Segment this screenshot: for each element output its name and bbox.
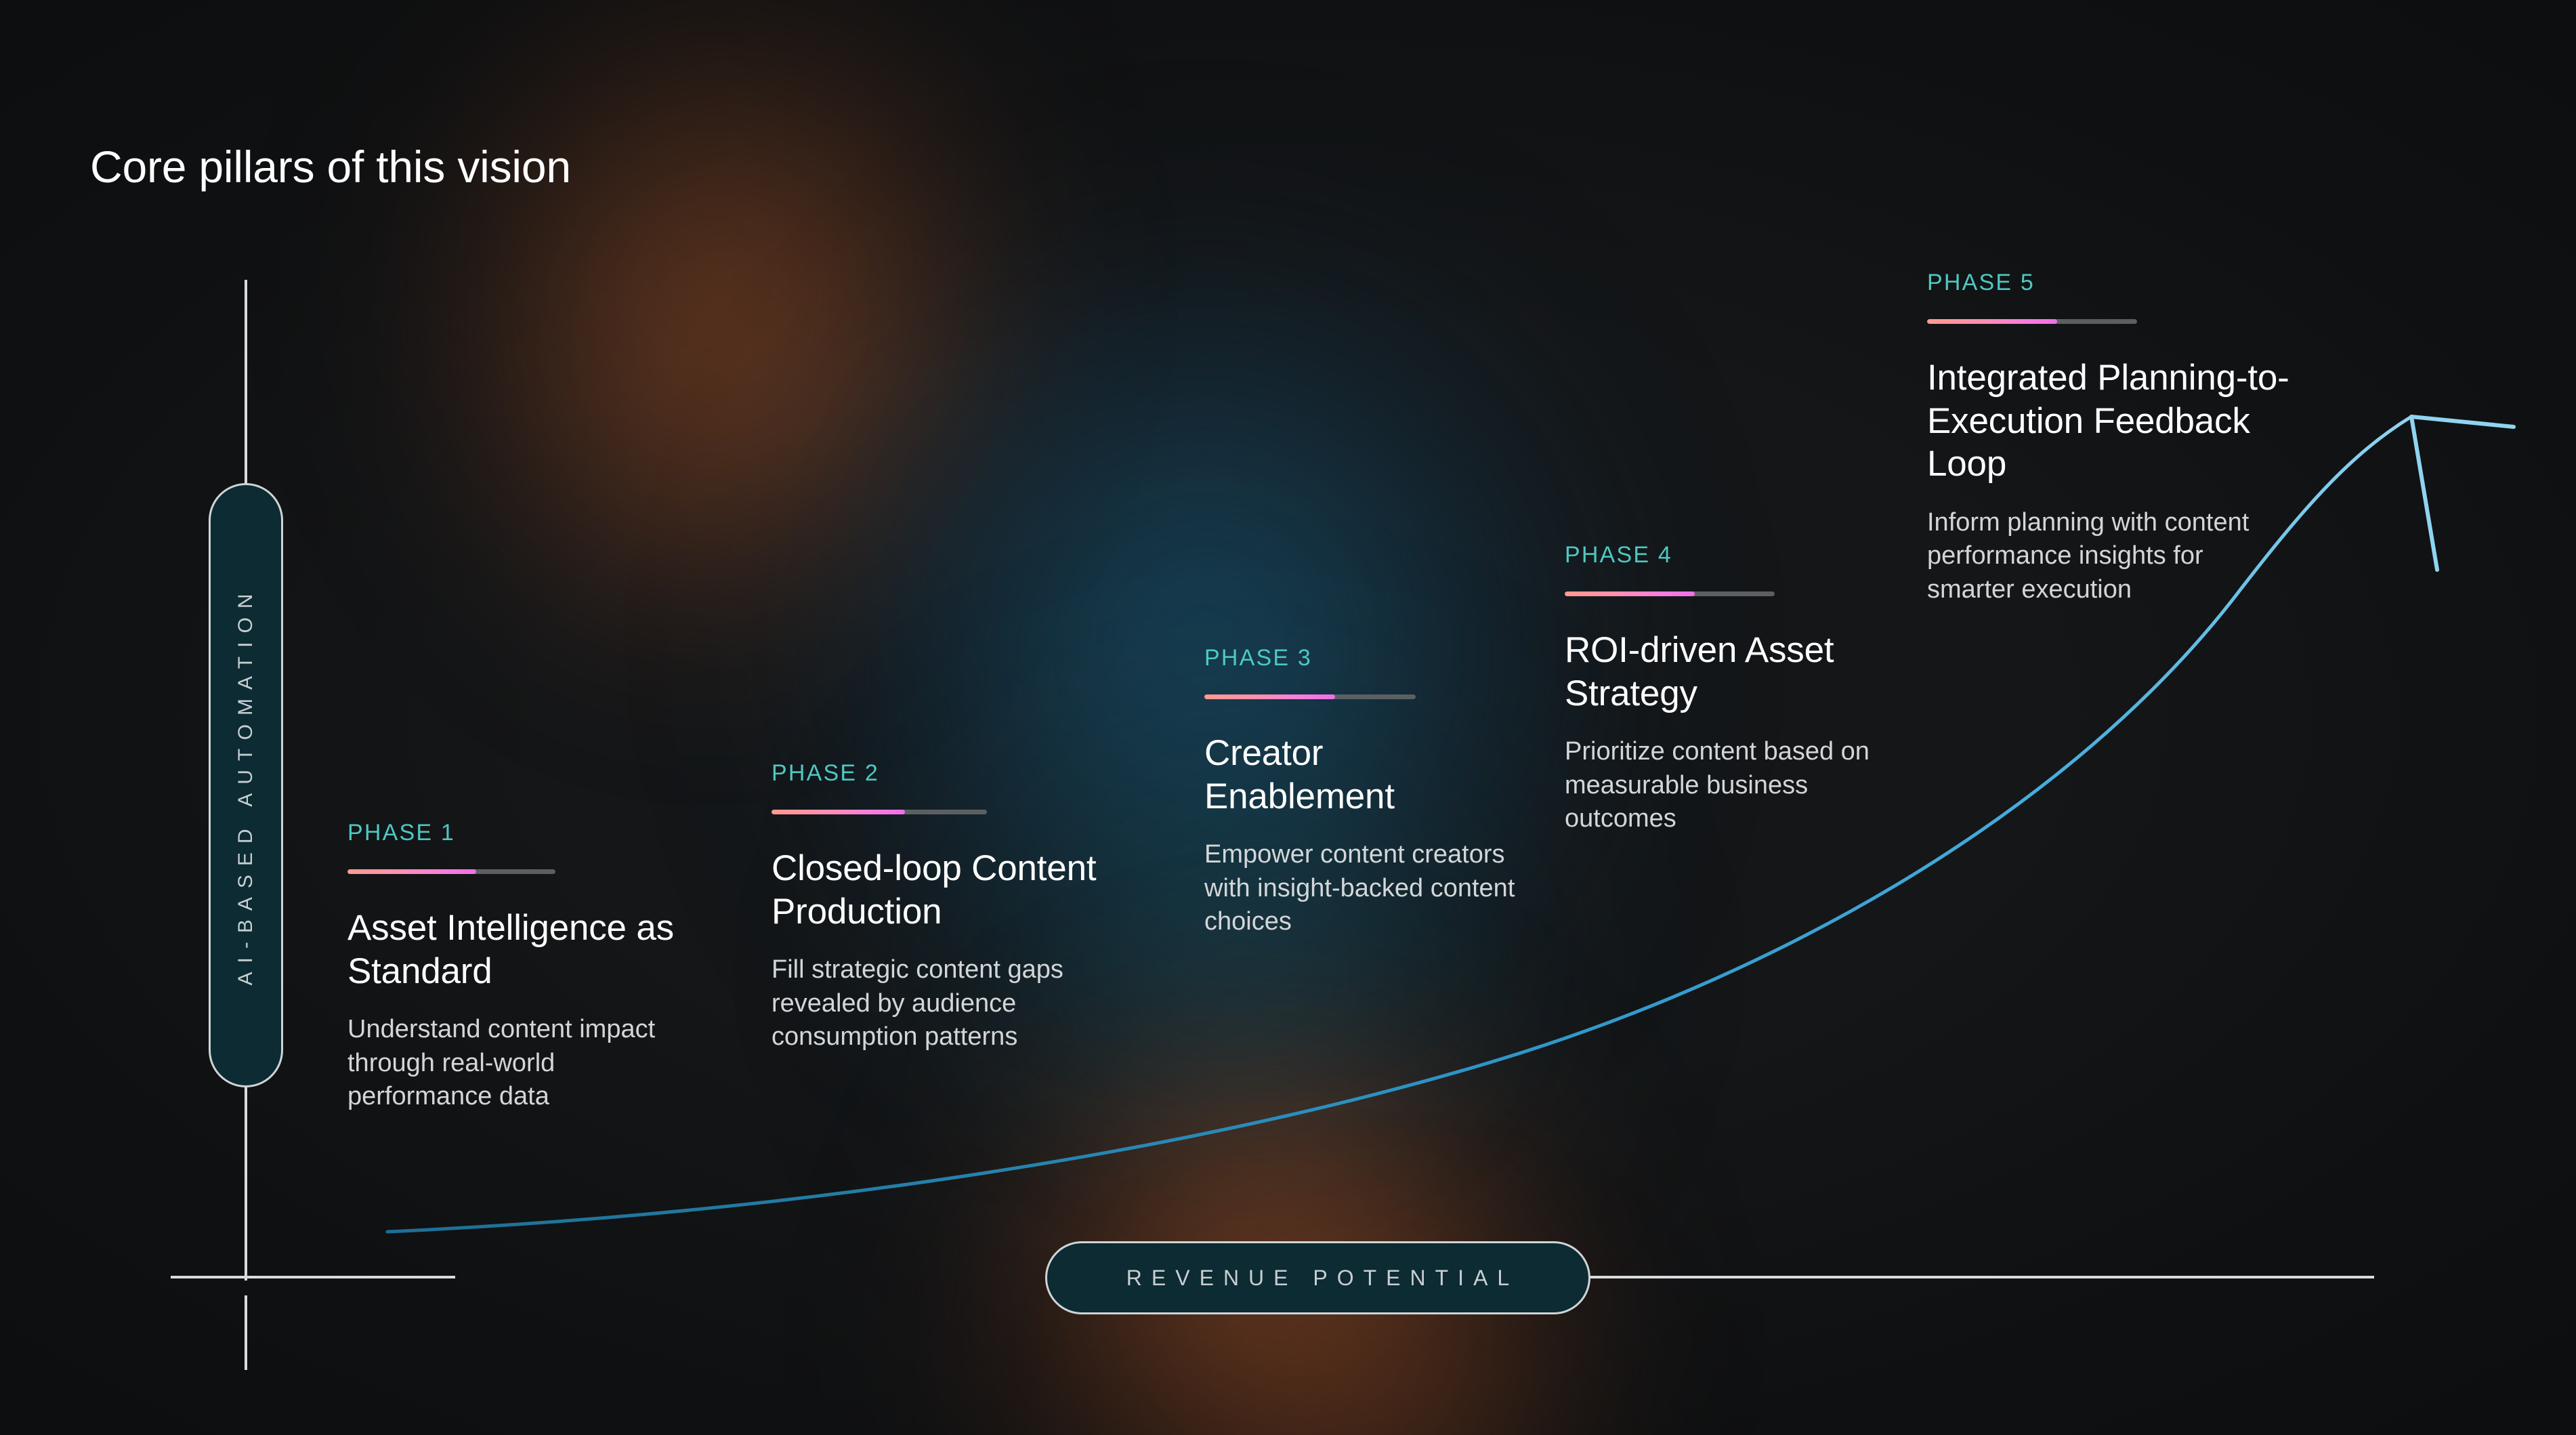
phase-description-5: Inform planning with content performance…: [1927, 506, 2296, 606]
phase-label-4: PHASE 4: [1565, 542, 1890, 568]
y-axis-line-lower: [245, 1084, 247, 1281]
phase-title-1: Asset Intelligence as Standard: [347, 907, 706, 993]
phase-progress-fill-1: [347, 869, 476, 874]
phase-label-5: PHASE 5: [1927, 270, 2296, 296]
slide-canvas: Core pillars of this vision AI-BASED AUT…: [0, 0, 2576, 1435]
phase-description-4: Prioritize content based on measurable b…: [1565, 735, 1890, 835]
phase-label-3: PHASE 3: [1204, 645, 1523, 671]
y-axis-line-stub: [245, 1295, 247, 1370]
background-glow-orange-top: [284, 0, 1138, 793]
y-axis-label-pill: AI-BASED AUTOMATION: [209, 483, 283, 1087]
x-axis-label-pill: REVENUE POTENTIAL: [1045, 1241, 1590, 1314]
x-axis-line-right: [1587, 1276, 2374, 1278]
page-title: Core pillars of this vision: [90, 144, 571, 190]
x-axis-label-text: REVENUE POTENTIAL: [1117, 1266, 1519, 1291]
phase-description-1: Understand content impact through real-w…: [347, 1013, 706, 1113]
x-axis-line-left: [171, 1276, 455, 1278]
y-axis-label-text: AI-BASED AUTOMATION: [234, 585, 257, 986]
phase-progress-bar-5: [1927, 319, 2137, 324]
phase-card-5[interactable]: PHASE 5 Integrated Planning-to-Execution…: [1927, 270, 2296, 606]
phase-label-1: PHASE 1: [347, 820, 706, 846]
phase-title-3: Creator Enablement: [1204, 732, 1523, 818]
phase-description-2: Fill strategic content gaps revealed by …: [772, 953, 1158, 1054]
y-axis-line-upper: [245, 280, 247, 484]
phase-card-1[interactable]: PHASE 1 Asset Intelligence as Standard U…: [347, 820, 706, 1113]
phase-card-4[interactable]: PHASE 4 ROI-driven Asset Strategy Priori…: [1565, 542, 1890, 835]
phase-progress-bar-1: [347, 869, 555, 874]
phase-label-2: PHASE 2: [772, 760, 1158, 787]
phase-description-3: Empower content creators with insight-ba…: [1204, 838, 1523, 938]
phase-progress-fill-5: [1927, 319, 2057, 324]
phase-progress-bar-3: [1204, 694, 1416, 699]
phase-title-5: Integrated Planning-to-Execution Feedbac…: [1927, 356, 2296, 486]
phase-progress-fill-2: [772, 810, 905, 814]
phase-progress-bar-4: [1565, 591, 1775, 596]
phase-progress-bar-2: [772, 810, 987, 814]
phase-title-2: Closed-loop Content Production: [772, 847, 1158, 933]
phase-progress-fill-4: [1565, 591, 1695, 596]
phase-card-2[interactable]: PHASE 2 Closed-loop Content Production F…: [772, 760, 1158, 1054]
phase-progress-fill-3: [1204, 694, 1335, 699]
phase-title-4: ROI-driven Asset Strategy: [1565, 629, 1890, 715]
phase-card-3[interactable]: PHASE 3 Creator Enablement Empower conte…: [1204, 645, 1523, 938]
